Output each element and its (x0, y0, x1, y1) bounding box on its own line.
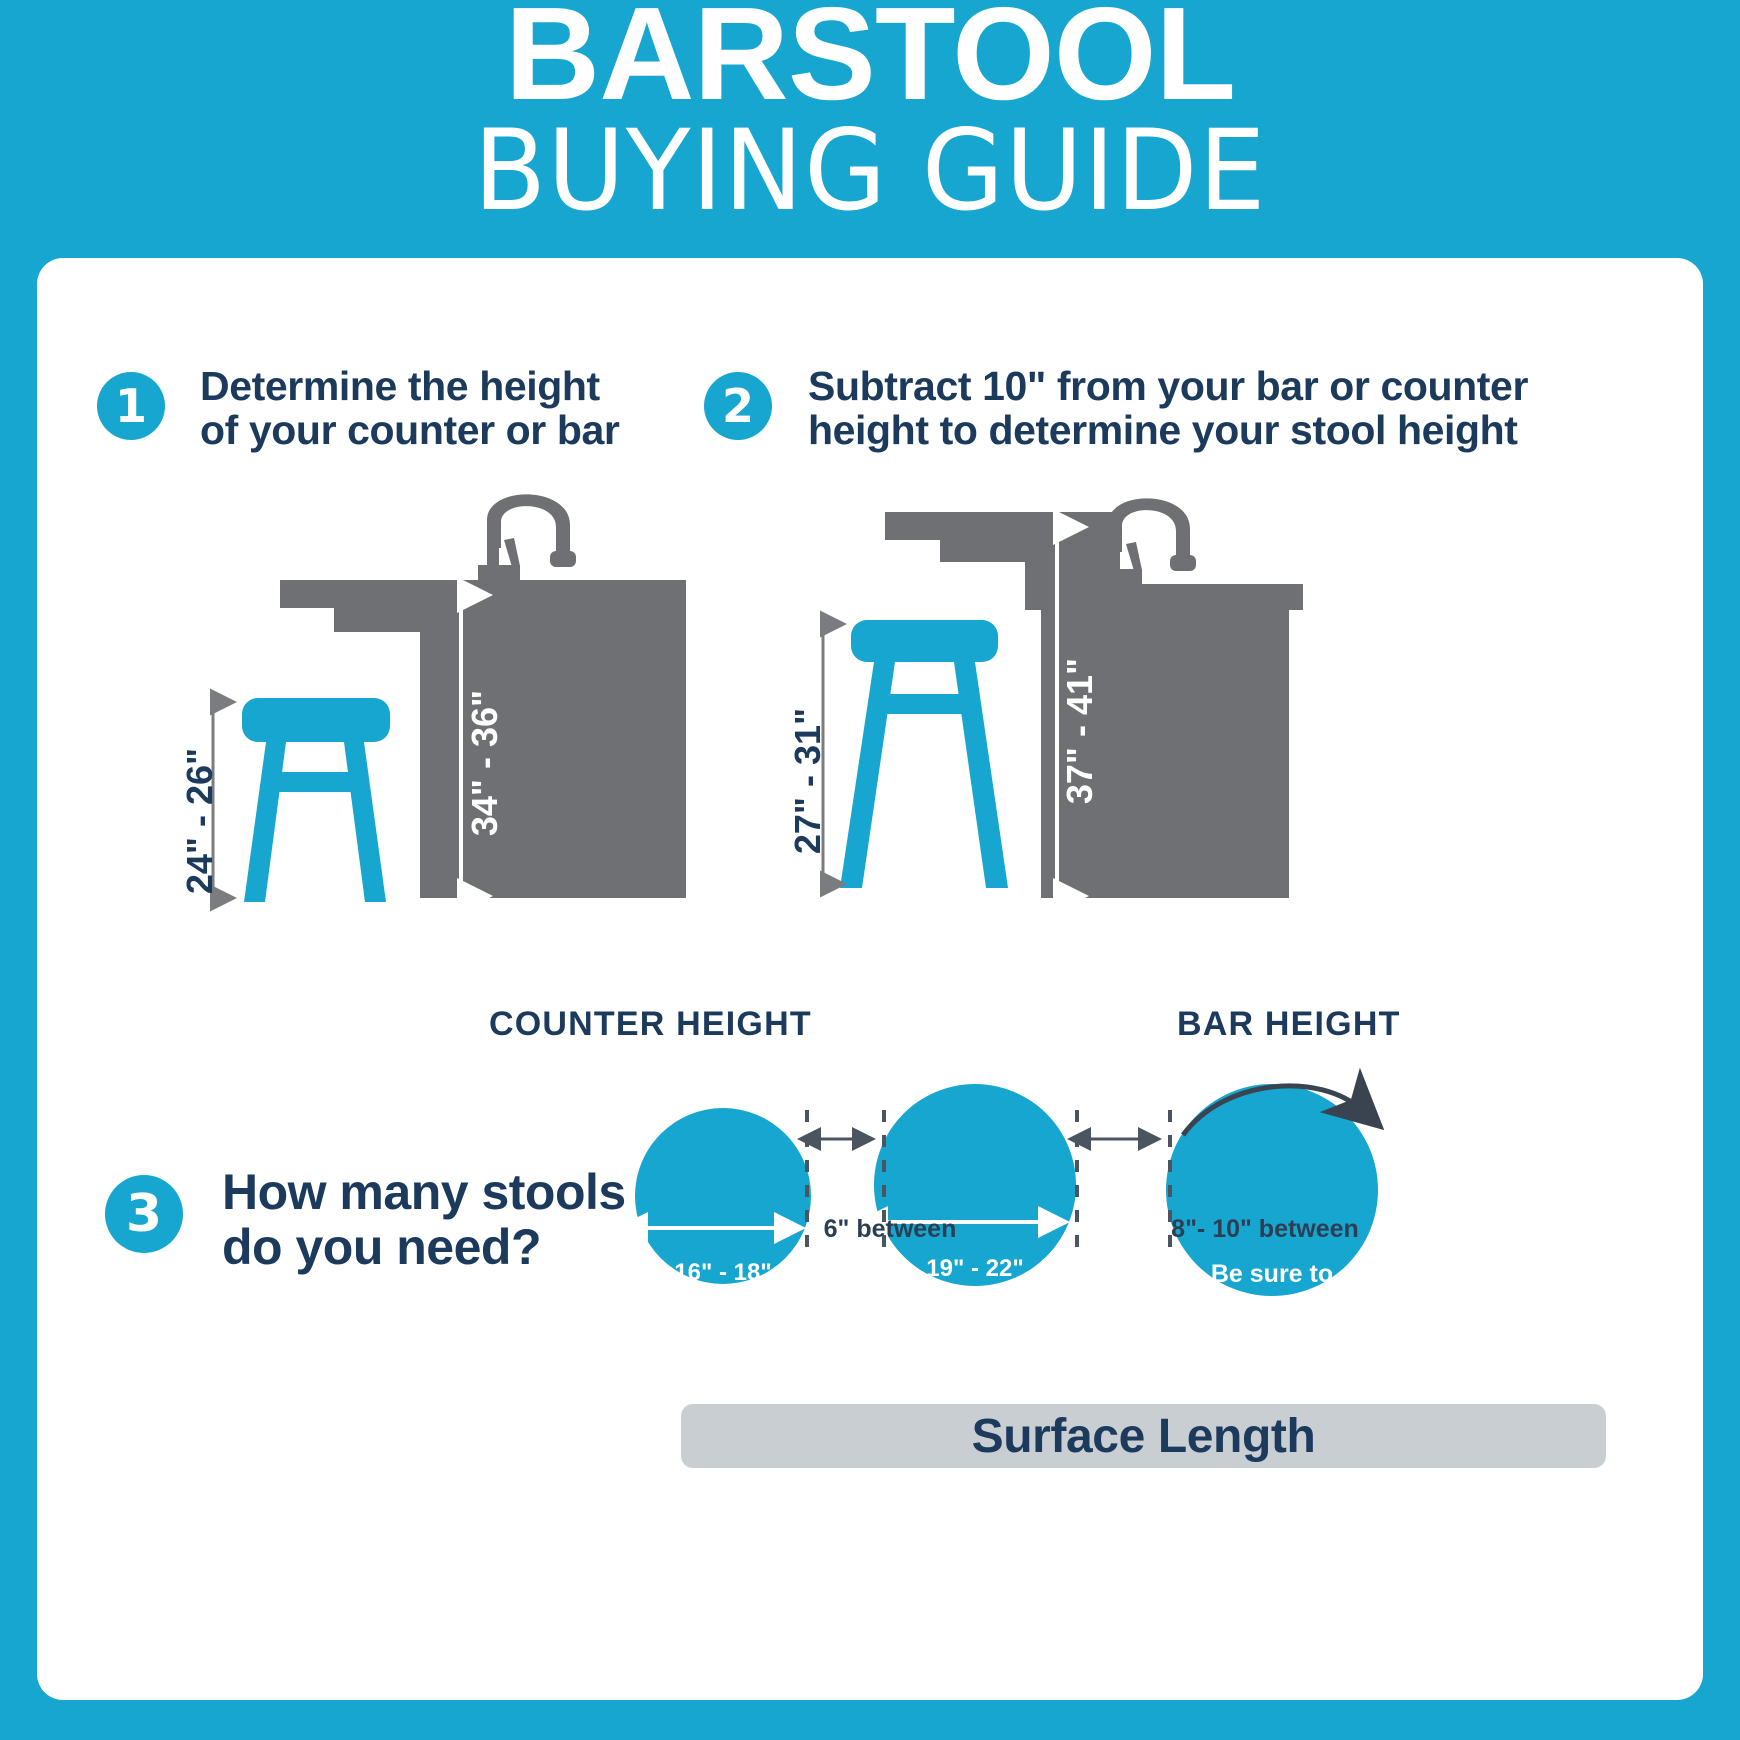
bar-surface-dimension-label: 37" - 41" (1059, 651, 1101, 811)
step-badge-1: 1 (97, 372, 165, 440)
content-card (37, 258, 1703, 1700)
counter-stool-dimension-label: 24" - 26" (179, 741, 221, 901)
counter-stool-circle-text: 16" - 18" diameter (623, 1259, 823, 1315)
swivel-note-line2: allow more space (1157, 1290, 1387, 1321)
swivel-note-line3: for barstools (1157, 1320, 1387, 1351)
step-badge-3: 3 (105, 1175, 183, 1253)
step-2-heading-line1: Subtract 10" from your bar or counter (808, 365, 1608, 409)
swivel-note-line4: that swivel (1157, 1351, 1387, 1382)
step-3-heading: How many stools do you need? (222, 1165, 642, 1275)
swivel-note-line1: Be sure to (1157, 1259, 1387, 1290)
header-banner: BARSTOOL BUYING GUIDE (0, 0, 1740, 255)
step-1-heading-line1: Determine the height (200, 365, 760, 409)
surface-length-bar: Surface Length (681, 1404, 1606, 1468)
bar-height-caption: BAR HEIGHT (1177, 1005, 1401, 1044)
gap-2-label: 8"- 10" between (1171, 1215, 1359, 1244)
step-1-heading: Determine the height of your counter or … (200, 365, 760, 453)
counter-height-caption: COUNTER HEIGHT (489, 1005, 812, 1044)
step-3-heading-line2: do you need? (222, 1220, 642, 1275)
step-2-heading: Subtract 10" from your bar or counter he… (808, 365, 1608, 453)
step-3-heading-line1: How many stools (222, 1165, 642, 1220)
bar-stool-circle-line1: 19" - 22" (865, 1255, 1085, 1283)
counter-stool-circle-line1: 16" - 18" (623, 1259, 823, 1287)
page-title: BARSTOOL (0, 0, 1740, 120)
step-badge-2: 2 (704, 372, 772, 440)
bar-stool-dimension-label: 27" - 31" (787, 701, 829, 861)
swivel-note-circle-text: Be sure to allow more space for barstool… (1157, 1259, 1387, 1381)
gap-1-label: 6" between (824, 1215, 957, 1244)
counter-stool-circle-line2: diameter (623, 1287, 823, 1315)
step-2-heading-line2: height to determine your stool height (808, 409, 1608, 453)
bar-stool-circle-line2: diameter (865, 1283, 1085, 1311)
page-subtitle: BUYING GUIDE (0, 115, 1740, 226)
bar-stool-circle-text: 19" - 22" diameter (865, 1255, 1085, 1311)
counter-surface-dimension-label: 34" - 36" (464, 683, 506, 843)
step-1-heading-line2: of your counter or bar (200, 409, 760, 453)
surface-length-label: Surface Length (972, 1409, 1316, 1464)
